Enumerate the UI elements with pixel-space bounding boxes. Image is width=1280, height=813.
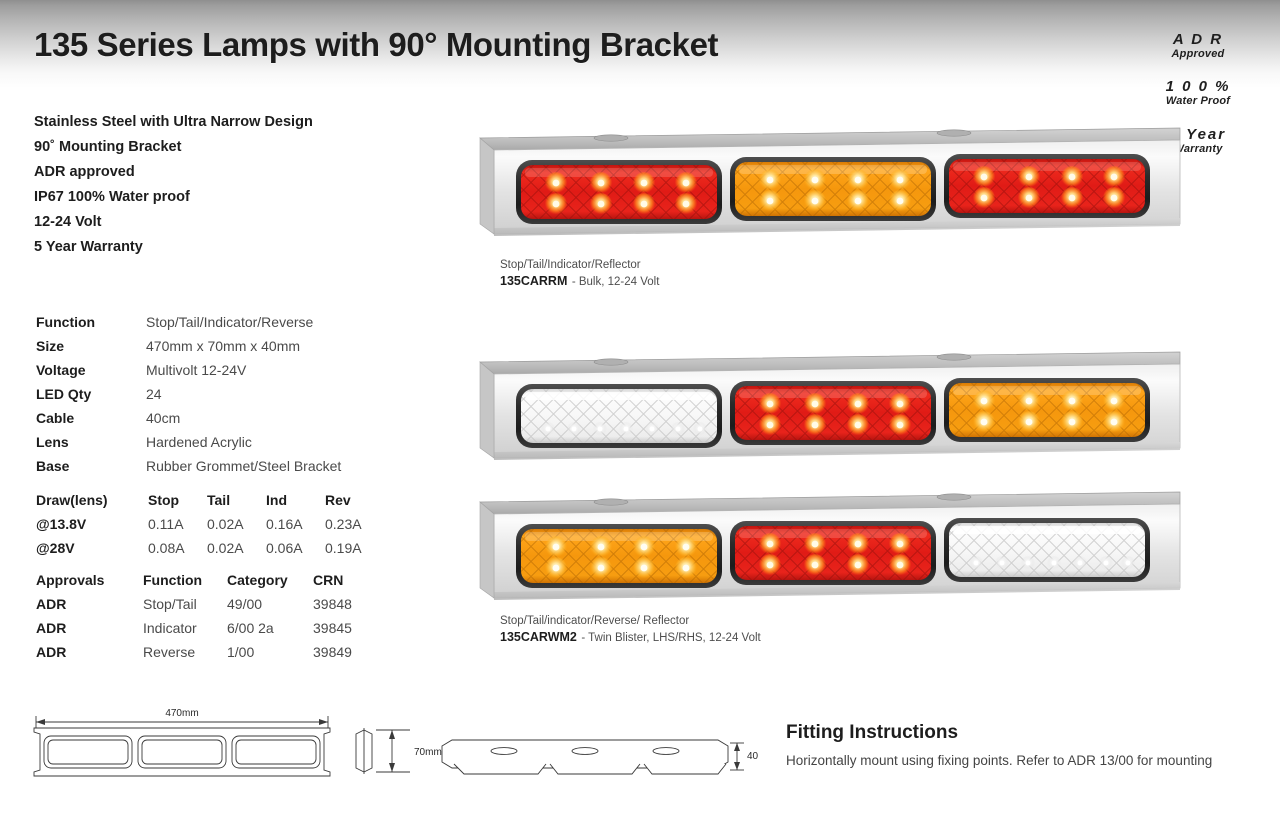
approvals-function: Stop/Tail (143, 592, 227, 616)
spec-value: Multivolt 12-24V (146, 358, 246, 382)
spec-label: Function (36, 310, 146, 334)
fitting-instructions-body: Horizontally mount using fixing points. … (786, 751, 1226, 771)
fixing-hole (594, 135, 628, 141)
spec-label: LED Qty (36, 382, 146, 406)
front-view-outline (34, 728, 330, 776)
approvals-function: Indicator (143, 616, 227, 640)
datasheet-page: 135 Series Lamps with 90° Mounting Brack… (0, 0, 1280, 813)
approvals-header-row: Approvals Function Category CRN (36, 568, 456, 592)
approvals-crn: 39849 (313, 640, 383, 664)
approvals-row: ADR Indicator 6/00 2a 39845 (36, 616, 456, 640)
approvals-row: ADR Stop/Tail 49/00 39848 (36, 592, 456, 616)
draw-cell-rev: 0.19A (325, 536, 384, 560)
feature-item: IP67 100% Water proof (34, 185, 434, 210)
spec-value: Rubber Grommet/Steel Bracket (146, 454, 341, 478)
feature-item: 90˚ Mounting Bracket (34, 135, 434, 160)
draw-cell-tail: 0.02A (207, 536, 266, 560)
spec-value: 40cm (146, 406, 180, 430)
caption-function: Stop/Tail/Indicator/Reflector (500, 257, 659, 273)
spec-value: 470mm x 70mm x 40mm (146, 334, 300, 358)
draw-cell-stop: 0.11A (148, 512, 207, 536)
caption-135carrm: Stop/Tail/Indicator/Reflector 135CARRM -… (500, 257, 659, 290)
spec-value: Hardened Acrylic (146, 430, 252, 454)
badge-adr-approved: A D R Approved (1138, 32, 1258, 60)
spec-value: 24 (146, 382, 162, 406)
approvals-header-function: Function (143, 568, 227, 592)
draw-cell-stop: 0.08A (148, 536, 207, 560)
fixing-hole (937, 130, 971, 136)
spec-label: Cable (36, 406, 146, 430)
feature-item: Stainless Steel with Ultra Narrow Design (34, 110, 434, 135)
lens-highlight (525, 392, 713, 400)
product-photo-135carrm (474, 116, 1186, 241)
lens-white-1 (516, 384, 722, 448)
caption-function: Stop/Tail/indicator/Reverse/ Reflector (500, 613, 761, 629)
dimension-label-height: 70mm (414, 747, 442, 758)
feature-list: Stainless Steel with Ultra Narrow Design… (34, 110, 434, 260)
draw-cell-tail: 0.02A (207, 512, 266, 536)
draw-voltage: @13.8V (36, 512, 148, 536)
approvals-crn: 39845 (313, 616, 383, 640)
draw-cell-rev: 0.23A (325, 512, 384, 536)
current-draw-table: Draw(lens) Stop Tail Ind Rev @13.8V 0.11… (36, 488, 436, 560)
approvals-header-label: Approvals (36, 568, 143, 592)
spec-label: Base (36, 454, 146, 478)
fitting-instructions: Fitting Instructions Horizontally mount … (786, 722, 1226, 771)
housing-end-cap (480, 362, 494, 458)
end-view-outline (356, 728, 372, 774)
spec-label: Size (36, 334, 146, 358)
caption-line: 135CARWM2 - Twin Blister, LHS/RHS, 12-24… (500, 629, 761, 646)
spec-row: Voltage Multivolt 12-24V (36, 358, 436, 382)
dimension-depth (730, 743, 744, 770)
approvals-crn: 39848 (313, 592, 383, 616)
caption-135carwm2: Stop/Tail/indicator/Reverse/ Reflector 1… (500, 613, 761, 646)
fixing-hole (594, 499, 628, 505)
product-photo-135carwm2-rhs (474, 486, 1186, 611)
approvals-row: ADR Reverse 1/00 39849 (36, 640, 456, 664)
lens-red-1 (730, 521, 936, 585)
caption-line: 135CARRM - Bulk, 12-24 Volt (500, 273, 659, 290)
lens-amber-1 (730, 157, 936, 221)
lens-red-1 (516, 160, 722, 224)
draw-row: @13.8V 0.11A 0.02A 0.16A 0.23A (36, 512, 436, 536)
badge-waterproof-subtitle: Water Proof (1138, 95, 1258, 107)
specifications-table: Function Stop/Tail/Indicator/Reverse Siz… (36, 310, 436, 478)
spec-row: Lens Hardened Acrylic (36, 430, 436, 454)
approvals-category: 6/00 2a (227, 616, 313, 640)
spec-row: LED Qty 24 (36, 382, 436, 406)
draw-header-stop: Stop (148, 488, 207, 512)
spec-row: Cable 40cm (36, 406, 436, 430)
feature-item: 12-24 Volt (34, 210, 434, 235)
lens-amber-1 (516, 524, 722, 588)
badge-waterproof-title: 1 0 0 % (1138, 79, 1258, 95)
dimension-label-length: 470mm (165, 708, 198, 719)
spec-value: Stop/Tail/Indicator/Reverse (146, 310, 313, 334)
approvals-function: Reverse (143, 640, 227, 664)
approvals-table: Approvals Function Category CRN ADR Stop… (36, 568, 456, 664)
caption-product-desc: - Bulk, 12-24 Volt (572, 276, 660, 288)
approvals-standard: ADR (36, 640, 143, 664)
draw-header-tail: Tail (207, 488, 266, 512)
draw-voltage: @28V (36, 536, 148, 560)
draw-header-ind: Ind (266, 488, 325, 512)
fixing-hole (937, 494, 971, 500)
badge-adr-title: A D R (1138, 32, 1258, 48)
lens-red-1 (730, 381, 936, 445)
draw-header-rev: Rev (325, 488, 384, 512)
approvals-standard: ADR (36, 616, 143, 640)
side-view-outline (442, 740, 728, 774)
housing-end-cap (480, 138, 494, 234)
approvals-category: 1/00 (227, 640, 313, 664)
spec-label: Lens (36, 430, 146, 454)
lens-white-1 (944, 518, 1150, 582)
spec-row: Base Rubber Grommet/Steel Bracket (36, 454, 436, 478)
caption-product-code: 135CARRM (500, 274, 567, 288)
spec-row: Function Stop/Tail/Indicator/Reverse (36, 310, 436, 334)
dimension-label-depth: 40mm (747, 751, 758, 762)
draw-header-row: Draw(lens) Stop Tail Ind Rev (36, 488, 436, 512)
fitting-instructions-title: Fitting Instructions (786, 722, 1226, 744)
caption-product-desc: - Twin Blister, LHS/RHS, 12-24 Volt (581, 632, 760, 644)
caption-product-code: 135CARWM2 (500, 630, 577, 644)
draw-header-label: Draw(lens) (36, 488, 148, 512)
draw-cell-ind: 0.06A (266, 536, 325, 560)
badge-water-proof: 1 0 0 % Water Proof (1138, 79, 1258, 107)
badge-adr-subtitle: Approved (1138, 48, 1258, 60)
feature-item: ADR approved (34, 160, 434, 185)
draw-cell-ind: 0.16A (266, 512, 325, 536)
approvals-header-crn: CRN (313, 568, 383, 592)
spec-row: Size 470mm x 70mm x 40mm (36, 334, 436, 358)
draw-row: @28V 0.08A 0.02A 0.06A 0.19A (36, 536, 436, 560)
technical-drawings: 470mm 70mm 40mm (18, 698, 758, 808)
approvals-category: 49/00 (227, 592, 313, 616)
fixing-hole (937, 354, 971, 360)
fixing-hole (594, 359, 628, 365)
lens-amber-1 (944, 378, 1150, 442)
lens-highlight (953, 526, 1141, 534)
housing-end-cap (480, 502, 494, 598)
page-title: 135 Series Lamps with 90° Mounting Brack… (34, 26, 718, 64)
dimension-height (376, 730, 410, 772)
lens-red-2 (944, 154, 1150, 218)
spec-label: Voltage (36, 358, 146, 382)
approvals-header-category: Category (227, 568, 313, 592)
feature-item: 5 Year Warranty (34, 235, 434, 260)
product-photo-135carwm2-lhs (474, 342, 1186, 467)
approvals-standard: ADR (36, 592, 143, 616)
